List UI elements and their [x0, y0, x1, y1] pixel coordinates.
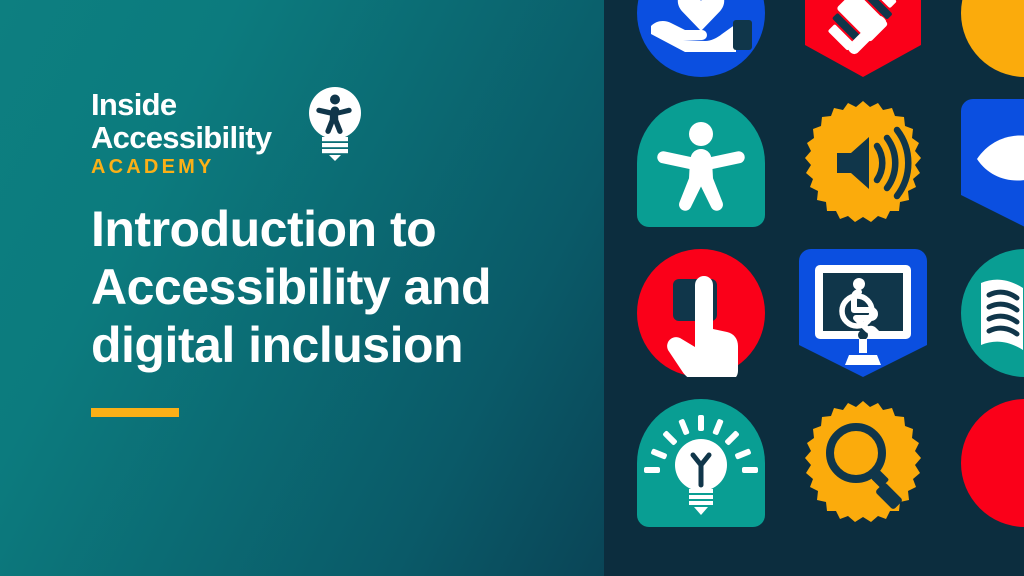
- icon-cell: [620, 0, 782, 88]
- icon-grid: [620, 0, 1024, 538]
- icon-cell: [620, 88, 782, 238]
- icon-cell: [782, 0, 944, 88]
- lightbulb-idea-icon: [637, 399, 765, 527]
- icon-cell: [620, 388, 782, 538]
- logo-line-inside: Inside: [91, 88, 271, 121]
- icon-cell: [620, 238, 782, 388]
- touch-pointer-icon: [637, 249, 765, 377]
- accessibility-person-icon: [637, 99, 765, 227]
- icon-cell: [782, 88, 944, 238]
- page-title: Introduction to Accessibility and digita…: [91, 200, 561, 374]
- logo-wordmark: Inside Accessibility ACADEMY: [91, 88, 271, 180]
- magnifier-search-icon: [799, 399, 927, 527]
- icon-cell: [944, 0, 1024, 88]
- title-accent-bar: [91, 408, 179, 417]
- eye-vision-icon: [961, 99, 1024, 227]
- icon-cell: [944, 388, 1024, 538]
- lightbulb-accessibility-icon: [305, 85, 365, 166]
- icon-cell: [782, 388, 944, 538]
- open-book-icon: [961, 249, 1024, 377]
- speaker-volume-icon: [799, 99, 927, 227]
- slide-canvas: Inside Accessibility ACADEMY: [0, 0, 1024, 576]
- brand-logo: Inside Accessibility ACADEMY: [91, 88, 611, 174]
- icon-cell: [944, 88, 1024, 238]
- blank-circle-red: [961, 399, 1024, 527]
- icon-cell: [944, 238, 1024, 388]
- hand-heart-icon: [637, 0, 765, 77]
- gavel-icon: [799, 0, 927, 77]
- blank-circle-yellow: [961, 0, 1024, 77]
- logo-line-academy: ACADEMY: [91, 154, 271, 180]
- left-content: Inside Accessibility ACADEMY: [91, 88, 611, 417]
- icon-cell: [782, 238, 944, 388]
- logo-line-accessibility: Accessibility: [91, 121, 271, 154]
- monitor-wheelchair-icon: [799, 249, 927, 377]
